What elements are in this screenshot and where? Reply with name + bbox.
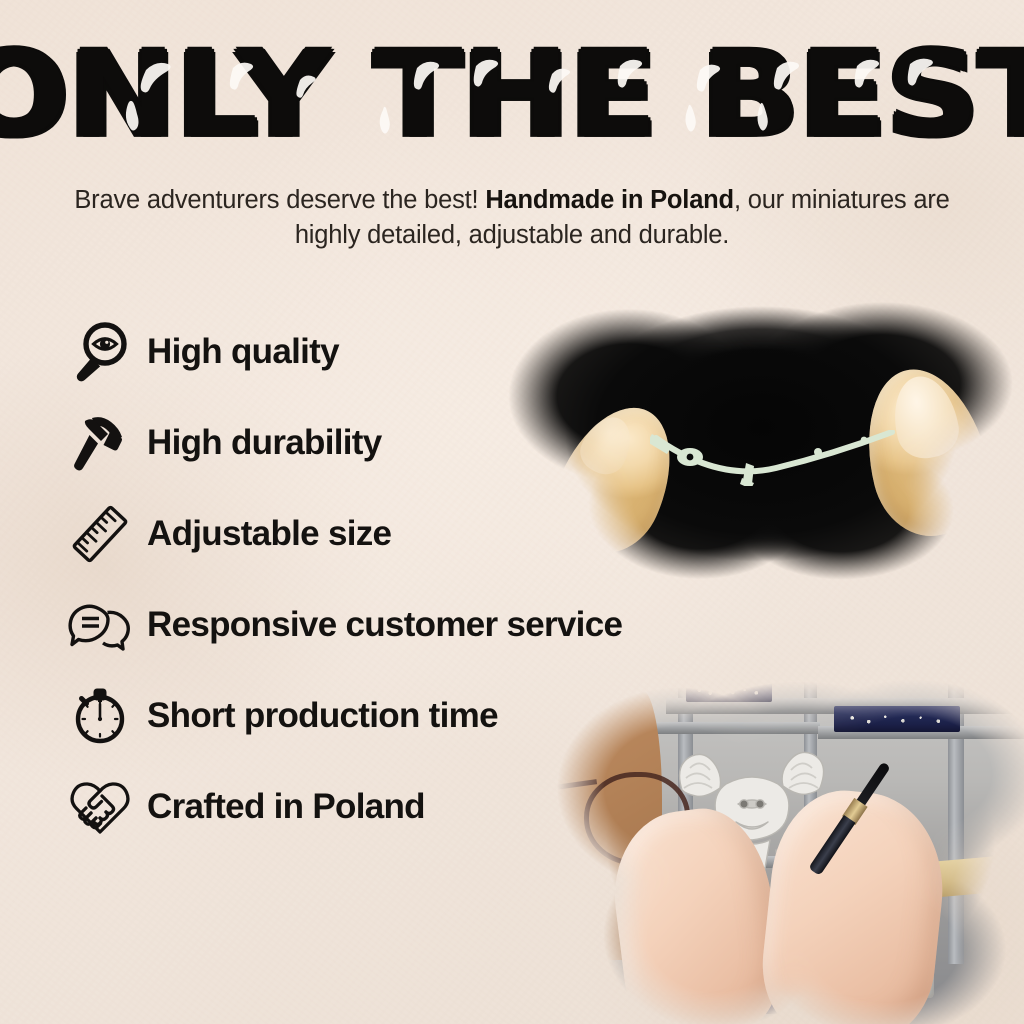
miniature-tray [686,680,772,702]
feature-label: Responsive customer service [147,605,622,645]
feature-item-responsive-customer-service: Responsive customer service [62,579,762,670]
feature-label: High quality [147,332,339,372]
page-title: ONLY THE BEST [0,36,1024,152]
headline-container: ONLY THE BEST [0,36,1024,148]
miniature-tray [834,706,960,732]
speech-bubbles-icon [62,589,138,661]
stopwatch-icon [62,680,138,752]
shelf-board [652,722,820,734]
heart-handshake-icon [62,771,138,843]
feature-label: Short production time [147,696,498,736]
hammer-icon [62,407,138,479]
flexed-miniature-part [650,430,898,486]
durability-photo [508,276,1014,592]
subtitle: Brave adventurers deserve the best! Hand… [62,183,962,253]
feature-label: Crafted in Poland [147,787,425,827]
subtitle-emphasis: Handmade in Poland [485,186,734,214]
magnifier-eye-icon [62,316,138,388]
workshop-photo [556,664,1024,1024]
infographic-poster: ONLY THE BEST Brave adventurers deserve … [0,0,1024,1024]
feature-label: Adjustable size [147,514,391,554]
ruler-icon [62,498,138,570]
feature-label: High durability [147,423,382,463]
subtitle-lead: Brave adventurers deserve the best! [74,186,485,214]
